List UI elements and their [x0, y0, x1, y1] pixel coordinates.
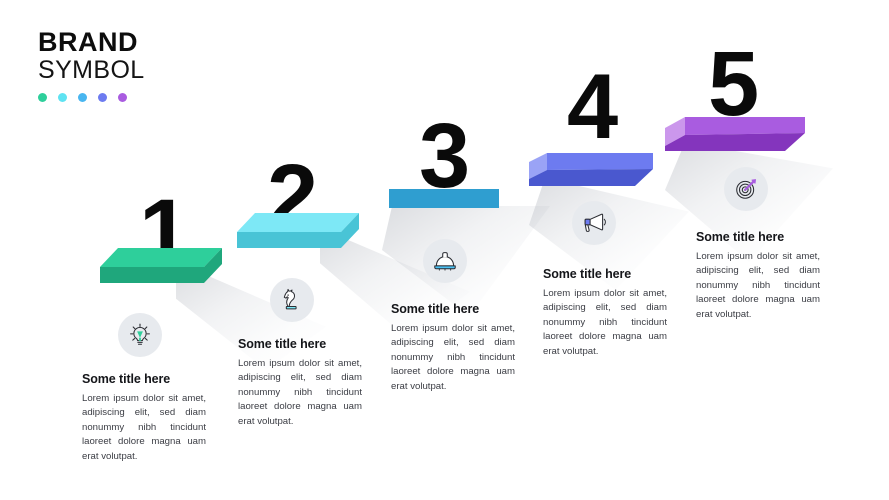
step-icon-4[interactable] [572, 201, 616, 245]
step-title-5: Some title here [696, 230, 820, 246]
dot-green [38, 93, 47, 102]
platform-3 [389, 189, 501, 211]
target-dart-icon [733, 176, 759, 202]
step-text-1: Some title here Lorem ipsum dolor sit am… [82, 372, 206, 465]
platform-3-shape [389, 189, 501, 211]
brand-dot-row [38, 93, 238, 102]
step-title-4: Some title here [543, 267, 667, 283]
safety-helmet-icon [432, 248, 458, 274]
brand-block: BRAND SYMBOL [38, 28, 238, 102]
brand-name-primary: BRAND [38, 28, 238, 56]
dot-cyan [58, 93, 67, 102]
step-body-4: Lorem ipsum dolor sit amet, adipiscing e… [543, 287, 667, 360]
dot-blue [78, 93, 87, 102]
platform-5-shape [665, 111, 807, 159]
step-body-2: Lorem ipsum dolor sit amet, adipiscing e… [238, 357, 362, 430]
step-icon-2[interactable] [270, 278, 314, 322]
platform-5 [665, 111, 807, 159]
step-text-3: Some title here Lorem ipsum dolor sit am… [391, 302, 515, 395]
step-title-3: Some title here [391, 302, 515, 318]
megaphone-icon [581, 210, 607, 236]
step-icon-3[interactable] [423, 239, 467, 283]
step-body-5: Lorem ipsum dolor sit amet, adipiscing e… [696, 250, 820, 323]
platform-2-shape [237, 208, 359, 253]
platform-1-shape [100, 243, 222, 288]
step-text-4: Some title here Lorem ipsum dolor sit am… [543, 267, 667, 360]
step-title-1: Some title here [82, 372, 206, 388]
step-text-5: Some title here Lorem ipsum dolor sit am… [696, 230, 820, 323]
step-icon-5[interactable] [724, 167, 768, 211]
step-body-3: Lorem ipsum dolor sit amet, adipiscing e… [391, 322, 515, 395]
step-icon-1[interactable] [118, 313, 162, 357]
platform-1 [100, 243, 222, 288]
chess-knight-icon [279, 287, 305, 313]
dot-indigo [98, 93, 107, 102]
platform-2 [237, 208, 359, 253]
infographic-canvas: BRAND SYMBOL 1 [0, 0, 889, 500]
step-body-1: Lorem ipsum dolor sit amet, adipiscing e… [82, 392, 206, 465]
lightbulb-icon [127, 322, 153, 348]
platform-4 [529, 148, 655, 193]
step-text-2: Some title here Lorem ipsum dolor sit am… [238, 337, 362, 430]
step-title-2: Some title here [238, 337, 362, 353]
step-number-4: 4 [567, 61, 616, 153]
dot-purple [118, 93, 127, 102]
brand-name-secondary: SYMBOL [38, 56, 238, 84]
platform-4-shape [529, 148, 655, 193]
